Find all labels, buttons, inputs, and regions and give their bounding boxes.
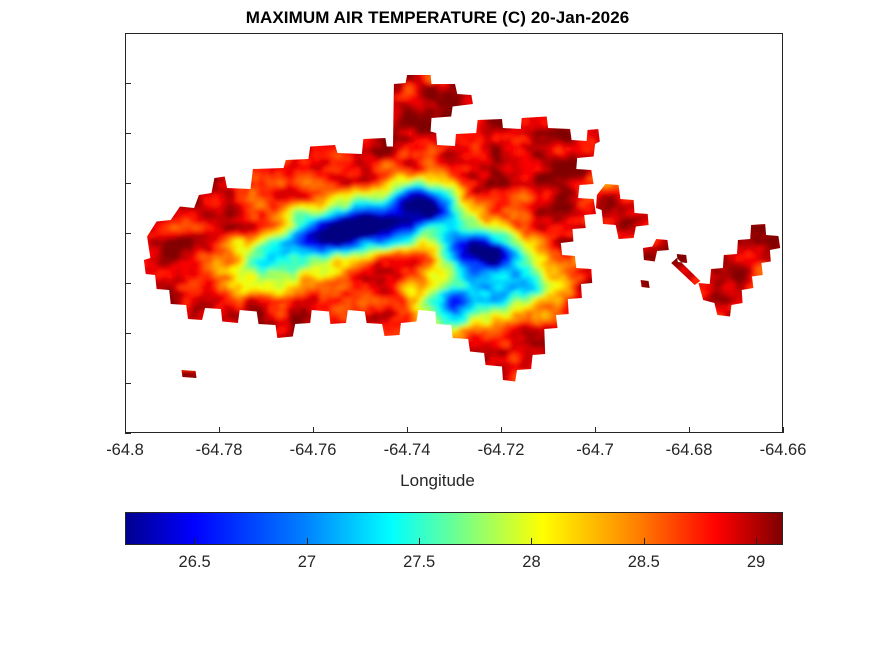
x-tick-mark — [783, 427, 784, 433]
x-tick-mark — [595, 427, 596, 433]
colorbar-tick-label: 27 — [262, 553, 352, 572]
x-tick-mark — [313, 427, 314, 433]
y-tick-mark — [125, 333, 131, 334]
x-tick-mark — [689, 427, 690, 433]
colorbar-tick-mark — [307, 538, 308, 545]
figure-canvas: MAXIMUM AIR TEMPERATURE (C) 20-Jan-2026 … — [0, 0, 875, 656]
temperature-heatmap — [126, 34, 782, 432]
colorbar-tick-mark — [419, 538, 420, 545]
x-tick-mark — [125, 427, 126, 433]
colorbar-tick-mark — [756, 538, 757, 545]
colorbar-tick-mark — [644, 538, 645, 545]
colorbar-tick-label: 28 — [486, 553, 576, 572]
x-tick-mark — [407, 427, 408, 433]
y-tick-mark — [125, 383, 131, 384]
colorbar-tick-mark — [531, 538, 532, 545]
y-tick-mark — [125, 283, 131, 284]
colorbar-tick-mark — [195, 538, 196, 545]
map-axes — [125, 33, 783, 433]
x-tick-mark — [501, 427, 502, 433]
y-tick-mark — [125, 183, 131, 184]
colorbar-tick-label: 26.5 — [150, 553, 240, 572]
colorbar-tick-label: 29 — [711, 553, 801, 572]
y-tick-mark — [125, 33, 131, 34]
colorbar-tick-label: 27.5 — [374, 553, 464, 572]
colorbar[interactable] — [125, 512, 783, 545]
y-tick-mark — [125, 133, 131, 134]
y-tick-mark — [125, 83, 131, 84]
y-tick-mark — [125, 233, 131, 234]
x-tick-label: -64.66 — [723, 441, 843, 460]
plot-title: MAXIMUM AIR TEMPERATURE (C) 20-Jan-2026 — [0, 8, 875, 28]
y-tick-mark — [125, 433, 131, 434]
x-axis-label: Longitude — [0, 471, 875, 491]
colorbar-tick-label: 28.5 — [599, 553, 689, 572]
x-tick-mark — [219, 427, 220, 433]
